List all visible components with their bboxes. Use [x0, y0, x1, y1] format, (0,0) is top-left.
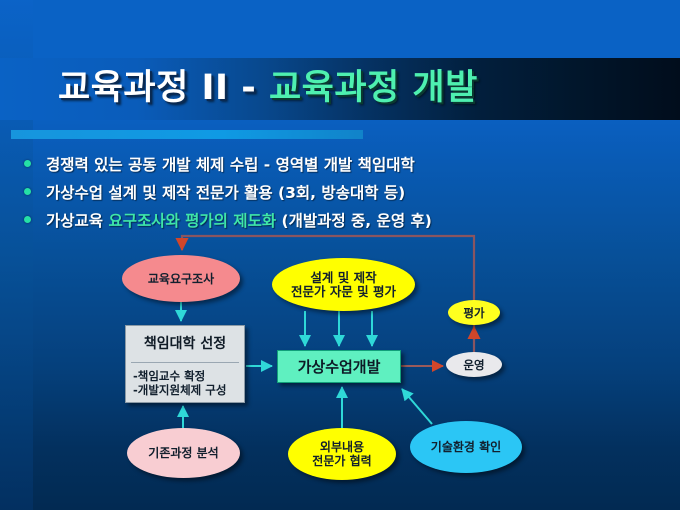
node-label: 평가: [463, 306, 484, 320]
node-label: 기술환경 확인: [431, 440, 501, 454]
node-sub-item-2: -개발지원체제 구성: [133, 383, 226, 397]
node-heading: 책임대학 선정: [126, 326, 244, 362]
node-label: 운영: [463, 358, 484, 372]
node-virtual-class-development[interactable]: 가상수업개발: [277, 350, 401, 383]
node-label-line1: 외부내용: [312, 440, 371, 454]
node-external-content-expert-cooperation[interactable]: 외부내용 전문가 협력: [288, 428, 396, 480]
node-responsible-university-selection[interactable]: 책임대학 선정 -책임교수 확정 -개발지원체제 구성: [125, 325, 245, 403]
node-technical-environment-check[interactable]: 기술환경 확인: [410, 421, 522, 473]
node-label: 교육요구조사: [148, 272, 214, 286]
node-design-production-expert-review[interactable]: 설계 및 제작 전문가 자문 및 평가: [272, 258, 415, 311]
node-label-line2: 전문가 협력: [312, 454, 371, 468]
node-label: 기존과정 분석: [148, 446, 218, 460]
node-sub-item-1: -책임교수 확정: [133, 369, 205, 383]
node-label: 가상수업개발: [298, 360, 381, 374]
node-existing-curriculum-analysis[interactable]: 기존과정 분석: [127, 428, 240, 478]
node-operation[interactable]: 운영: [446, 352, 502, 377]
node-evaluation[interactable]: 평가: [448, 300, 500, 325]
process-diagram: 교육요구조사 설계 및 제작 전문가 자문 및 평가 평가 운영 책임대학 선정…: [0, 0, 680, 510]
node-label-line1: 설계 및 제작: [291, 271, 396, 285]
node-label-line2: 전문가 자문 및 평가: [291, 285, 396, 299]
node-education-needs-survey[interactable]: 교육요구조사: [122, 255, 240, 302]
presentation-slide: 교육과정 II - 교육과정 개발 경쟁력 있는 공동 개발 체제 수립 - 영…: [0, 0, 680, 510]
